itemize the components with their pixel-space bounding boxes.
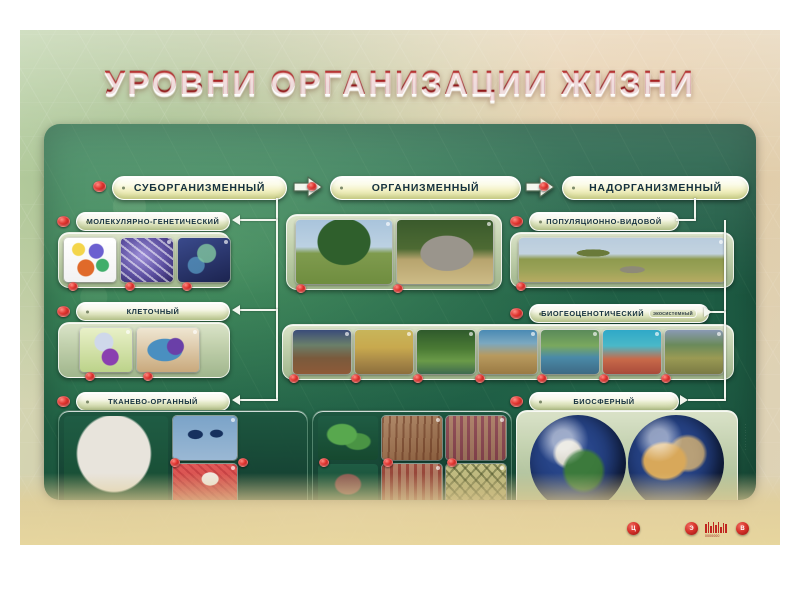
panel-molecular-images bbox=[58, 232, 230, 288]
leaf-sprig-image[interactable] bbox=[318, 416, 378, 460]
pin-tree-image bbox=[296, 284, 306, 293]
pin-arrow-2 bbox=[539, 182, 549, 191]
pin-eco-3 bbox=[413, 374, 423, 383]
connector-to-cellular bbox=[240, 309, 278, 311]
meadow-ecosystem-image[interactable] bbox=[541, 330, 599, 374]
pin-elephant-image bbox=[393, 284, 403, 293]
pin-arrow-1 bbox=[307, 182, 317, 191]
bullet-dot bbox=[86, 310, 89, 313]
thumb-corner bbox=[407, 332, 411, 336]
panel-organism-images bbox=[286, 214, 502, 290]
primate-skull-image[interactable] bbox=[64, 416, 168, 500]
arrowhead-tissue bbox=[232, 395, 240, 405]
connector-to-biospheric bbox=[688, 399, 726, 401]
connector-suborganismal-vertical bbox=[276, 198, 278, 220]
earth-eastern-hemisphere-image[interactable] bbox=[628, 415, 724, 500]
level-molecular-genetic-label: МОЛЕКУЛЯРНО-ГЕНЕТИЧЕСКИЙ bbox=[87, 217, 220, 226]
level-biospheric-label: БИОСФЕРНЫЙ bbox=[573, 397, 634, 406]
pin-cellular bbox=[57, 306, 70, 317]
thumb-corner bbox=[231, 466, 235, 470]
page-title-text: УРОВНИ ОРГАНИЗАЦИИ ЖИЗНИ bbox=[105, 64, 696, 102]
pin-eco-6 bbox=[599, 374, 609, 383]
pin-protein-image bbox=[68, 282, 78, 291]
forest-ecosystem-image[interactable] bbox=[417, 330, 475, 374]
publisher-microtext: . . . . . . . . . . bbox=[744, 424, 748, 451]
connector-biospheric-vertical bbox=[724, 312, 726, 400]
thumb-corner bbox=[110, 240, 114, 244]
thumb-corner bbox=[717, 332, 721, 336]
bullet-dot bbox=[539, 312, 542, 315]
arrowhead-cellular bbox=[232, 305, 240, 315]
level-tissue-organ[interactable]: ТКАНЕВО-ОРГАННЫЙ bbox=[76, 392, 230, 411]
bullet-dot bbox=[539, 400, 542, 403]
barcode: 0000000 bbox=[705, 522, 727, 533]
bullet-dot bbox=[539, 220, 542, 223]
bone-histology-image[interactable] bbox=[173, 464, 237, 500]
pin-tissue-organ bbox=[57, 396, 70, 407]
pin-eco-7 bbox=[661, 374, 671, 383]
level-biospheric[interactable]: БИОСФЕРНЫЙ bbox=[529, 392, 679, 411]
root-tip-image[interactable] bbox=[318, 464, 378, 500]
thumb-corner bbox=[193, 330, 197, 334]
pin-dna-image bbox=[125, 282, 135, 291]
publisher-logo-2-glyph: Э bbox=[689, 526, 693, 532]
thumb-corner bbox=[224, 240, 228, 244]
pin-plant-cell-image bbox=[85, 372, 95, 381]
dna-double-helix-image[interactable] bbox=[121, 238, 173, 282]
pin-biogeocenotic bbox=[510, 308, 523, 319]
steppe-ecosystem-image[interactable] bbox=[665, 330, 723, 374]
level-organismal-label: ОРГАНИЗМЕННЫЙ bbox=[372, 182, 480, 194]
pin-eco-1 bbox=[289, 374, 299, 383]
connector-biogeocenotic-vertical bbox=[724, 220, 726, 312]
screenshot-canvas: УРОВНИ ОРГАНИЗАЦИИ ЖИЗНИ СУБОРГАНИЗМЕННЫ… bbox=[0, 0, 800, 600]
coral-reef-ecosystem-image[interactable] bbox=[603, 330, 661, 374]
publisher-logo-2[interactable]: Э bbox=[685, 522, 698, 535]
publisher-logo-1-glyph: Ц bbox=[631, 526, 635, 532]
protein-structures-image[interactable] bbox=[64, 238, 116, 282]
level-suborganismal[interactable]: СУБОРГАНИЗМЕННЫЙ bbox=[112, 176, 287, 200]
arrowhead-biospheric bbox=[680, 395, 688, 405]
animal-cell-diagram-image[interactable] bbox=[137, 328, 199, 372]
bullet-dot bbox=[86, 220, 89, 223]
thumb-corner bbox=[593, 332, 597, 336]
diagram-board: СУБОРГАНИЗМЕННЫЙ ОРГАНИЗМЕННЫЙ НАДОРГАНИ… bbox=[44, 124, 756, 500]
poster: УРОВНИ ОРГАНИЗАЦИИ ЖИЗНИ СУБОРГАНИЗМЕННЫ… bbox=[20, 30, 780, 545]
vascular-bundle-image[interactable] bbox=[446, 416, 506, 460]
elephant-herd-panorama-image[interactable] bbox=[519, 238, 725, 282]
panel-plant-tissue-images bbox=[312, 410, 512, 500]
level-tissue-organ-label: ТКАНЕВО-ОРГАННЫЙ bbox=[108, 397, 198, 406]
pin-leaf-image bbox=[319, 458, 329, 467]
barcode-caption: 0000000 bbox=[705, 534, 720, 538]
pin-eco-2 bbox=[351, 374, 361, 383]
level-supraorganismal-label: НАДОРГАНИЗМЕННЫЙ bbox=[589, 182, 722, 194]
arrowhead-biogeocenotic bbox=[704, 307, 712, 317]
bullet-dot bbox=[340, 187, 343, 190]
cartilage-histology-image[interactable] bbox=[173, 416, 237, 460]
level-supraorganismal[interactable]: НАДОРГАНИЗМЕННЫЙ bbox=[562, 176, 749, 200]
thumb-corner bbox=[386, 222, 390, 226]
connector-supraorganismal-vertical bbox=[694, 198, 696, 220]
thumb-corner bbox=[487, 222, 491, 226]
coastal-ecosystem-image[interactable] bbox=[479, 330, 537, 374]
arrowhead-molecular bbox=[232, 215, 240, 225]
pin-molecule-image bbox=[182, 282, 192, 291]
level-population-species-label: ПОПУЛЯЦИОННО-ВИДОВОЙ bbox=[546, 217, 661, 226]
panel-biosphere-images bbox=[516, 410, 738, 500]
parenchyma-cells-image[interactable] bbox=[446, 464, 506, 500]
connector-to-tissue bbox=[240, 399, 278, 401]
pin-epidermis-image bbox=[383, 458, 393, 467]
pin-eco-5 bbox=[537, 374, 547, 383]
thumb-corner bbox=[655, 332, 659, 336]
panel-population-image bbox=[510, 232, 734, 288]
publisher-logo-3[interactable]: В bbox=[736, 522, 749, 535]
pin-biospheric bbox=[510, 396, 523, 407]
pin-suborganismal bbox=[93, 181, 106, 192]
level-biogeocenotic[interactable]: БИОГЕОЦЕНОТИЧЕСКИЙ экосистемный bbox=[529, 304, 709, 323]
thumb-corner bbox=[126, 330, 130, 334]
connector-to-molecular bbox=[240, 219, 278, 221]
thumb-corner bbox=[436, 418, 440, 422]
level-cellular-label: КЛЕТОЧНЫЙ bbox=[127, 307, 180, 316]
molecular-model-image[interactable] bbox=[178, 238, 230, 282]
publisher-logo-3-glyph: В bbox=[740, 526, 744, 532]
thumb-corner bbox=[531, 332, 535, 336]
african-elephant-image[interactable] bbox=[397, 220, 493, 284]
level-biogeocenotic-note: экосистемный bbox=[649, 309, 697, 318]
level-biogeocenotic-label: БИОГЕОЦЕНОТИЧЕСКИЙ bbox=[541, 309, 644, 318]
thumb-corner bbox=[231, 418, 235, 422]
thumb-corner bbox=[719, 240, 723, 244]
bullet-dot bbox=[572, 187, 575, 190]
thumb-corner bbox=[345, 332, 349, 336]
bullet-dot bbox=[122, 187, 125, 190]
level-population-species[interactable]: ПОПУЛЯЦИОННО-ВИДОВОЙ bbox=[529, 212, 679, 231]
plant-cell-diagram-image[interactable] bbox=[80, 328, 132, 372]
tundra-ecosystem-image[interactable] bbox=[293, 330, 351, 374]
thumb-corner bbox=[436, 466, 440, 470]
earth-western-hemisphere-image[interactable] bbox=[530, 415, 626, 500]
level-organismal[interactable]: ОРГАНИЗМЕННЫЙ bbox=[330, 176, 521, 200]
desert-ecosystem-image[interactable] bbox=[355, 330, 413, 374]
acacia-tree-savanna-image[interactable] bbox=[296, 220, 392, 284]
pin-herd-image bbox=[516, 282, 526, 291]
level-cellular[interactable]: КЛЕТОЧНЫЙ bbox=[76, 302, 230, 321]
connector-tissue-vertical bbox=[276, 309, 278, 399]
thumb-corner bbox=[167, 240, 171, 244]
panel-animal-tissue-images bbox=[58, 410, 308, 500]
pin-animal-cell-image bbox=[143, 372, 153, 381]
thumb-corner bbox=[469, 332, 473, 336]
level-molecular-genetic[interactable]: МОЛЕКУЛЯРНО-ГЕНЕТИЧЕСКИЙ bbox=[76, 212, 230, 231]
thumb-corner bbox=[500, 466, 504, 470]
bullet-dot bbox=[86, 400, 89, 403]
thumb-corner bbox=[500, 418, 504, 422]
pin-cartilage-image bbox=[170, 458, 180, 467]
connector-cellular-vertical bbox=[276, 220, 278, 309]
panel-cellular-images bbox=[58, 322, 230, 378]
page-title: УРОВНИ ОРГАНИЗАЦИИ ЖИЗНИ bbox=[20, 64, 780, 102]
level-suborganismal-label: СУБОРГАНИЗМЕННЫЙ bbox=[134, 182, 265, 194]
pin-molecular-genetic bbox=[57, 216, 70, 227]
connector-to-population bbox=[676, 219, 696, 221]
pin-eco-4 bbox=[475, 374, 485, 383]
pin-bone-image bbox=[238, 458, 248, 467]
pin-vascular-image bbox=[447, 458, 457, 467]
epidermal-tissue-image[interactable] bbox=[382, 416, 442, 460]
publisher-logo-1[interactable]: Ц bbox=[627, 522, 640, 535]
xylem-vessels-image[interactable] bbox=[382, 464, 442, 500]
pin-population-species bbox=[510, 216, 523, 227]
panel-ecosystem-images bbox=[282, 324, 734, 380]
